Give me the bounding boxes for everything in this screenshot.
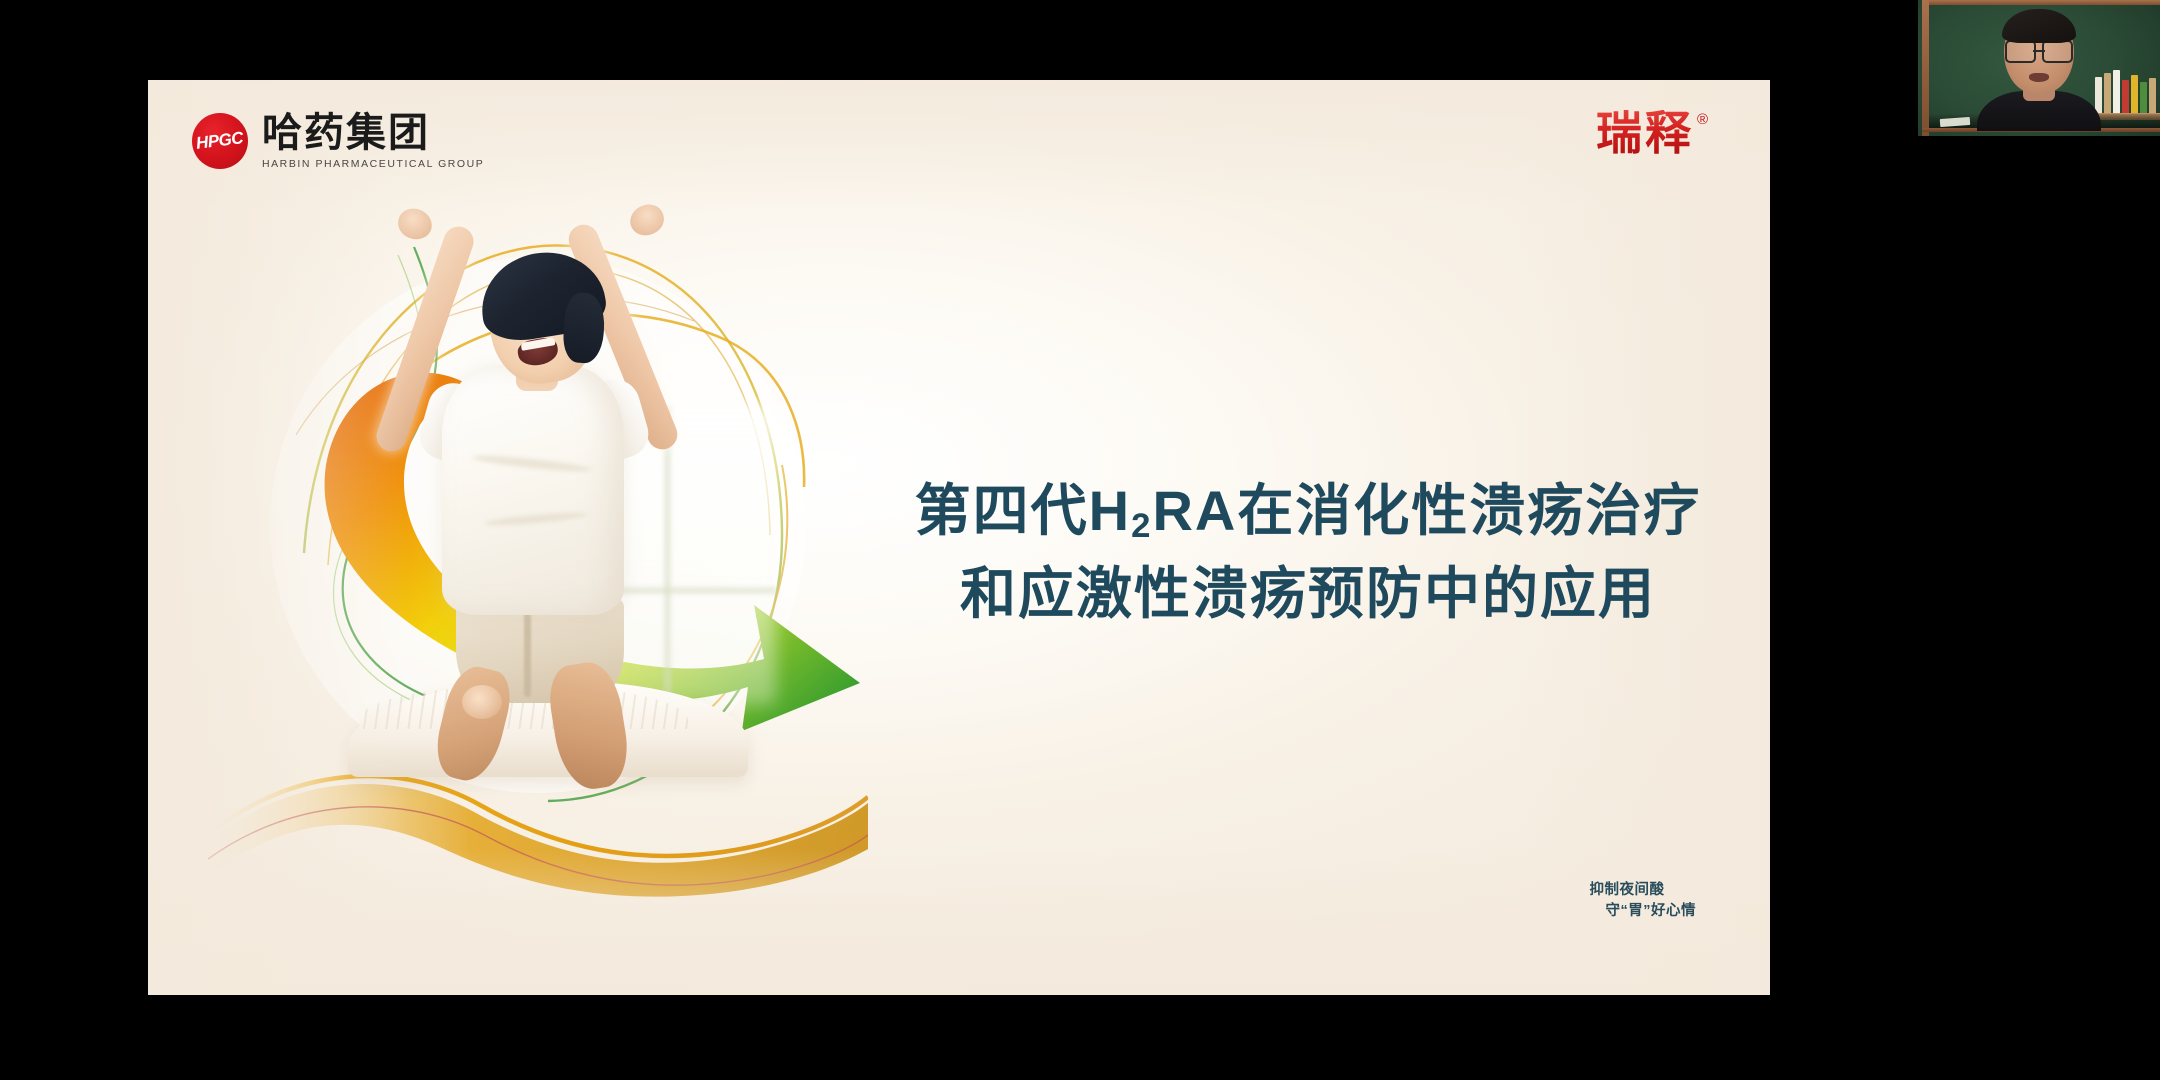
hero-artwork: [208, 135, 868, 905]
presentation-slide: HPGC 哈药集团 HARBIN PHARMACEUTICAL GROUP 瑞释…: [148, 80, 1770, 995]
window-mullion-vertical: [664, 407, 671, 707]
books-group: [2095, 69, 2156, 113]
tagline-line-2: 守“胃”好心情: [1590, 901, 1697, 923]
corporate-logo: HPGC 哈药集团 HARBIN PHARMACEUTICAL GROUP: [192, 113, 484, 170]
book-spine: [2113, 70, 2120, 113]
title-line-1: 第四代H2RA在消化性溃疡治疗: [908, 470, 1708, 553]
presenter-mouth: [2029, 73, 2049, 82]
book-spine: [2149, 78, 2156, 113]
glasses-left-lens: [2005, 40, 2036, 63]
chalkboard-frame-top: [1922, 0, 2160, 5]
corporate-name-cn: 哈药集团: [262, 113, 484, 154]
registered-trademark-icon: ®: [1697, 111, 1708, 128]
glasses-icon: [2005, 42, 2073, 61]
slide-title: 第四代H2RA在消化性溃疡治疗 和应激性溃疡预防中的应用: [908, 470, 1708, 636]
shorts-crease: [524, 601, 531, 697]
chalkboard-frame-left: [1922, 0, 1929, 136]
person-illustration: [312, 215, 752, 855]
book-spine: [2131, 75, 2138, 113]
title-subscript: 2: [1131, 507, 1152, 545]
glasses-right-lens: [2042, 40, 2073, 63]
book-spine: [2122, 80, 2129, 113]
book-spine: [2140, 82, 2147, 113]
person-knee-highlight: [462, 685, 502, 719]
hpgc-mark-text: HPGC: [195, 129, 244, 155]
title-line-2: 和应激性溃疡预防中的应用: [908, 553, 1708, 636]
screen-root: HPGC 哈药集团 HARBIN PHARMACEUTICAL GROUP 瑞释…: [0, 0, 2160, 1080]
book-spine: [2104, 73, 2111, 113]
brand-name: 瑞释: [1596, 110, 1694, 156]
presenter-figure: [1975, 19, 2103, 131]
person-shirt: [442, 365, 624, 615]
corporate-name-en: HARBIN PHARMACEUTICAL GROUP: [262, 158, 484, 170]
product-brand-logo: 瑞释 ®: [1596, 110, 1708, 156]
tagline-line-1: 抑制夜间酸: [1590, 880, 1697, 902]
corporate-logo-text: 哈药集团 HARBIN PHARMACEUTICAL GROUP: [262, 113, 484, 170]
product-tagline: 抑制夜间酸 守“胃”好心情: [1590, 880, 1697, 924]
title-line-1-prefix: 第四代H: [915, 479, 1131, 542]
title-line-1-suffix: RA在消化性溃疡治疗: [1152, 479, 1701, 542]
hpgc-circle-icon: HPGC: [192, 113, 248, 169]
webcam-video-tile[interactable]: [1918, 0, 2160, 136]
glasses-bridge: [2033, 50, 2045, 52]
